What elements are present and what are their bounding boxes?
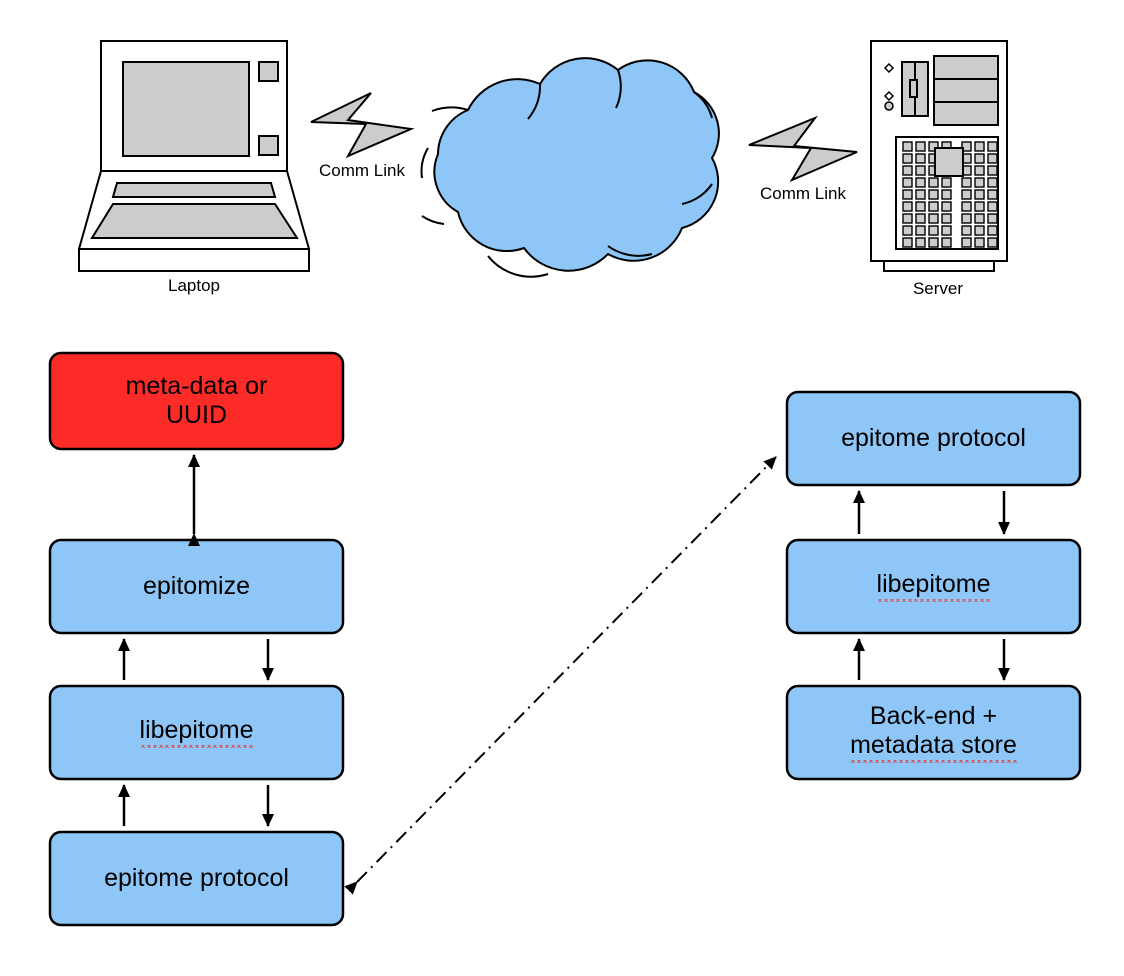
box-epitome-protocol-client[interactable] [50,832,343,925]
cloud-icon [422,58,719,277]
server-vent-grid [903,142,997,247]
server-stack-boxes [787,392,1080,779]
lightning-bolt-icon-left [311,93,411,156]
lightning-bolt-icon-right [749,118,857,180]
box-epitome-protocol-server[interactable] [787,392,1080,485]
connector-protocol-to-protocol [357,457,776,882]
connector-libepitome-backend-server [859,639,1004,680]
box-libepitome-server[interactable] [787,540,1080,633]
box-backend-metadata-store[interactable] [787,686,1080,779]
box-epitomize[interactable] [50,540,343,633]
diagram-canvas: Laptop Server Comm Link Comm Link meta-d… [0,0,1124,976]
client-stack-boxes [50,353,343,925]
connector-libepitome-protocol-client [124,785,268,826]
diagram-svg [0,0,1124,976]
laptop-icon [79,41,309,271]
server-icon [871,41,1007,271]
connector-protocol-libepitome-server [859,491,1004,534]
box-meta-data-uuid[interactable] [50,353,343,449]
connector-epitomize-libepitome [124,639,268,680]
box-libepitome-client[interactable] [50,686,343,779]
